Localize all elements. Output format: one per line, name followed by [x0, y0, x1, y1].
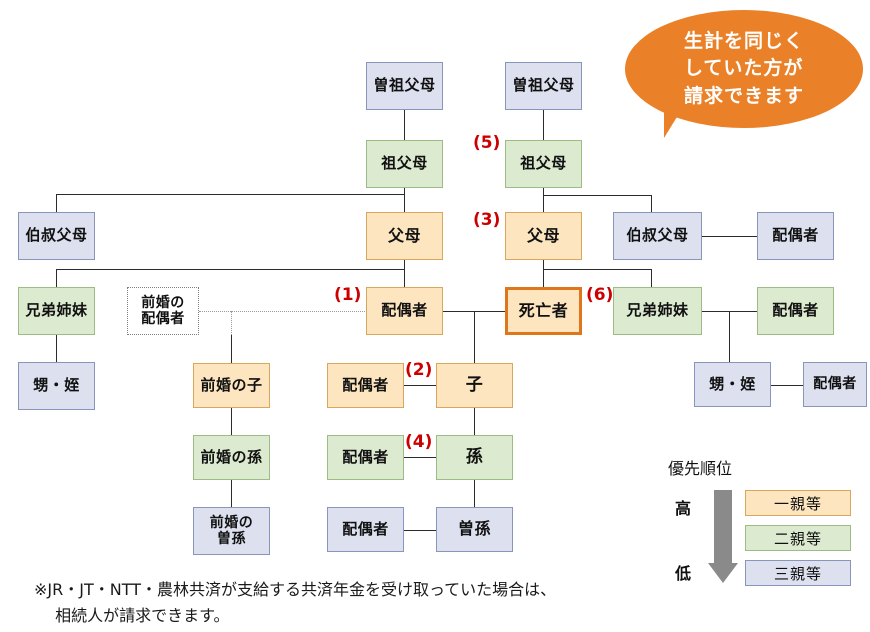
connector-exchild-exgchild — [231, 408, 232, 435]
rank-marker-4: (4) — [405, 432, 432, 452]
rank-label: (3) — [473, 210, 500, 230]
family-tree-diagram: 曽祖父母 祖父母 父母 伯叔父母 兄弟姉妹 甥・姪 前婚の 配偶者 前婚の子 前… — [0, 0, 870, 632]
legend-item-3: 三親等 — [745, 560, 851, 586]
node-label: 孫 — [466, 448, 484, 468]
node-label: 前婚の 配偶者 — [141, 295, 185, 327]
node-parent-r[interactable]: 父母 — [505, 212, 582, 260]
connector-spouse-child-v — [474, 311, 475, 363]
connector-ggpr-gpr — [543, 110, 544, 140]
connector-parentr-up — [543, 195, 544, 212]
connector-nepr-spouse — [771, 385, 803, 386]
node-gchild[interactable]: 孫 — [436, 435, 513, 480]
node-ggchild-spouse[interactable]: 配偶者 — [327, 507, 404, 552]
connector-ggchildspouse-ggchild — [404, 530, 436, 531]
rank-label: (1) — [334, 285, 361, 305]
node-parent-l[interactable]: 父母 — [366, 212, 443, 260]
node-uncle-r[interactable]: 伯叔父母 — [613, 212, 702, 260]
node-spouse[interactable]: 配偶者 — [366, 287, 443, 335]
connector-parentr-split — [543, 269, 651, 270]
legend-low-label: 低 — [675, 560, 691, 584]
legend-item-1: 一親等 — [745, 490, 851, 516]
connector-parentr-down — [543, 260, 544, 269]
node-label: 死亡者 — [519, 302, 569, 320]
node-label: 父母 — [527, 227, 560, 245]
connector-uncler-spouse — [702, 236, 757, 237]
node-label: 兄弟姉妹 — [626, 302, 688, 319]
node-ex-spouse[interactable]: 前婚の 配偶者 — [127, 287, 199, 335]
rank-marker-3: (3) — [473, 210, 500, 230]
node-label: 配偶者 — [342, 377, 389, 394]
connector-sibl-nepl — [56, 335, 57, 362]
node-label: 配偶者 — [381, 302, 428, 319]
rank-marker-5: (5) — [473, 133, 500, 153]
connector-sibr-nepr — [729, 311, 730, 362]
node-sib-r-spouse[interactable]: 配偶者 — [757, 287, 834, 335]
connector-exgchild-exggchild — [231, 480, 232, 507]
connector-gchild-ggchild — [474, 480, 475, 507]
connector-gchildspouse-gchild — [404, 457, 436, 458]
node-uncle-l[interactable]: 伯叔父母 — [18, 212, 95, 260]
legend-title: 優先順位 — [668, 455, 732, 479]
connector-gpl-down — [404, 188, 405, 215]
node-nep-r[interactable]: 甥・姪 — [694, 362, 771, 407]
node-ex-ggchild[interactable]: 前婚の 曽孫 — [193, 507, 270, 555]
priority-arrow-head — [708, 563, 738, 583]
node-deceased[interactable]: 死亡者 — [505, 287, 582, 335]
node-gp-r[interactable]: 祖父母 — [505, 140, 582, 188]
node-ex-child[interactable]: 前婚の子 — [193, 363, 270, 408]
callout-text: 生計を同じく していた方が 請求できます — [684, 28, 804, 111]
rank-label: (6) — [586, 285, 613, 305]
legend-item-label: 二親等 — [774, 528, 822, 549]
rank-marker-6: (6) — [586, 285, 613, 305]
rank-label: (5) — [473, 133, 500, 153]
node-ggchild[interactable]: 曽孫 — [436, 507, 513, 552]
connector-uncle-l-up — [56, 194, 57, 212]
node-uncle-r-spouse[interactable]: 配偶者 — [757, 212, 834, 260]
node-label: 伯叔父母 — [626, 227, 688, 244]
node-label: 伯叔父母 — [25, 227, 87, 244]
connector-parentl-down — [404, 260, 405, 290]
node-nep-l[interactable]: 甥・姪 — [18, 362, 95, 410]
node-label: 配偶者 — [813, 376, 857, 392]
node-label: 配偶者 — [772, 227, 819, 244]
node-label: 前婚の 曽孫 — [210, 515, 254, 547]
legend-high-label: 高 — [675, 495, 691, 519]
connector-gpl-uncle-h — [56, 194, 405, 195]
node-label: 曽祖父母 — [373, 77, 435, 94]
priority-arrow-shaft — [714, 490, 732, 565]
node-label: 父母 — [388, 227, 421, 245]
legend-item-label: 一親等 — [774, 493, 822, 514]
node-gchild-spouse[interactable]: 配偶者 — [327, 435, 404, 480]
node-label: 祖父母 — [381, 155, 428, 172]
node-label: 配偶者 — [342, 449, 389, 466]
node-ex-gchild[interactable]: 前婚の孫 — [193, 435, 270, 480]
connector-exchild-down1 — [231, 335, 232, 363]
node-child[interactable]: 子 — [436, 363, 513, 408]
node-label: 配偶者 — [342, 521, 389, 538]
node-nep-r-spouse[interactable]: 配偶者 — [803, 362, 867, 407]
node-sib-r[interactable]: 兄弟姉妹 — [613, 287, 702, 335]
node-gp-l[interactable]: 祖父母 — [366, 140, 443, 188]
callout-tail — [664, 112, 689, 138]
legend-item-label: 三親等 — [774, 563, 822, 584]
rank-label: (4) — [405, 432, 432, 452]
connector-child-gchild — [474, 408, 475, 435]
node-child-spouse[interactable]: 配偶者 — [327, 363, 404, 408]
callout-bubble: 生計を同じく していた方が 請求できます — [625, 10, 863, 128]
node-label: 配偶者 — [772, 302, 819, 319]
connector-ggpl-gpl — [404, 110, 405, 140]
node-ggp-l[interactable]: 曽祖父母 — [366, 62, 443, 110]
node-label: 曽祖父母 — [512, 77, 574, 94]
connector-sibr-up — [651, 269, 652, 287]
node-label: 子 — [466, 376, 484, 396]
connector-uncler-up — [651, 195, 652, 212]
node-label: 兄弟姉妹 — [25, 302, 87, 319]
connector-gpr-split — [543, 195, 651, 196]
node-sib-l[interactable]: 兄弟姉妹 — [18, 287, 95, 335]
rank-label: (2) — [405, 360, 432, 380]
node-label: 前婚の子 — [200, 377, 262, 394]
node-label: 甥・姪 — [33, 377, 80, 394]
node-label: 曽孫 — [458, 520, 491, 538]
connector-parentl-sib-h — [56, 269, 405, 270]
connector-deceased-up — [543, 269, 544, 287]
node-label: 祖父母 — [520, 155, 567, 172]
node-ggp-r[interactable]: 曽祖父母 — [505, 62, 582, 110]
node-label: 甥・姪 — [709, 376, 756, 393]
legend-item-2: 二親等 — [745, 525, 851, 551]
connector-sib-l-up — [56, 269, 57, 287]
rank-marker-2: (2) — [405, 360, 432, 380]
node-label: 前婚の孫 — [200, 449, 262, 466]
footnote: ※JR・JT・NTT・農林共済が支給する共済年金を受け取っていた場合は、 相続人… — [34, 577, 674, 628]
rank-marker-1: (1) — [334, 285, 361, 305]
connector-childspouse-child — [404, 385, 436, 386]
connector-exspouse-spouse — [199, 311, 367, 312]
